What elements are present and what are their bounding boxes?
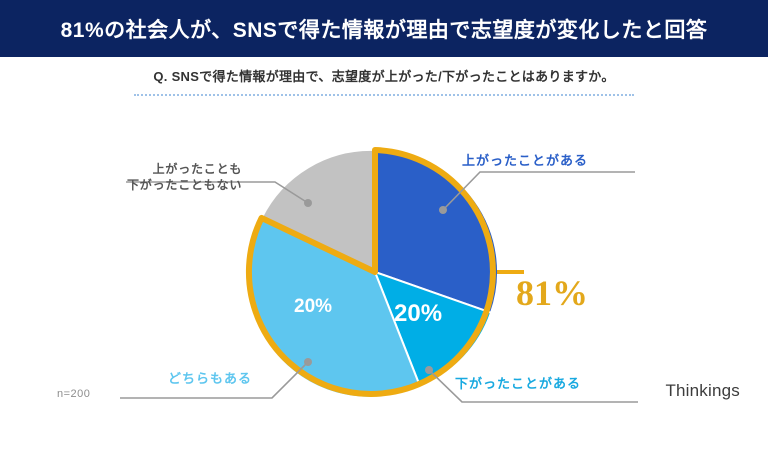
question-divider xyxy=(134,94,634,96)
header-bar: 81%の社会人が、SNSで得た情報が理由で志望度が変化したと回答 xyxy=(0,0,768,57)
label-none-line2: 下がったこともない xyxy=(127,178,242,192)
label-both: どちらもある xyxy=(168,370,252,388)
slice-value-down: 24% xyxy=(427,399,475,427)
slice-value-none: 20% xyxy=(294,296,332,318)
pie-chart: 20% 24% 37% 20% xyxy=(0,110,768,410)
sample-size: n=200 xyxy=(57,388,90,400)
highlight-81-value: 81% xyxy=(516,272,588,314)
question-text: Q. SNSで得た情報が理由で、志望度が上がった/下がったことはありますか。 xyxy=(153,66,614,85)
slice-value-up: 20% xyxy=(394,300,442,328)
question-block: Q. SNSで得た情報が理由で、志望度が上がった/下がったことはありますか。 xyxy=(0,66,768,96)
label-none-line1: 上がったことも xyxy=(153,162,243,176)
label-up: 上がったことがある xyxy=(462,152,588,170)
label-none: 上がったことも 下がったこともない xyxy=(127,161,242,193)
page-title: 81%の社会人が、SNSで得た情報が理由で志望度が変化したと回答 xyxy=(61,14,708,44)
pie-chart-svg xyxy=(0,110,768,410)
label-down: 下がったことがある xyxy=(455,375,581,393)
slice-value-both: 37% xyxy=(288,424,336,452)
brand-logo: Thinkings xyxy=(665,381,740,401)
infographic-slide: 81%の社会人が、SNSで得た情報が理由で志望度が変化したと回答 Q. SNSで… xyxy=(0,0,768,432)
